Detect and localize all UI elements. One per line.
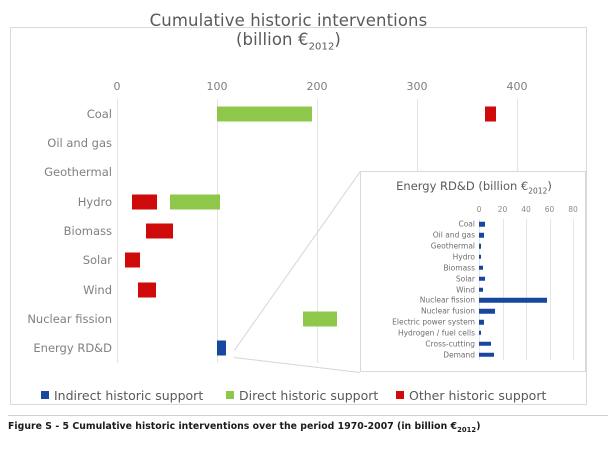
inset-gridline (573, 219, 574, 360)
main-bar-segment (170, 194, 220, 209)
inset-category-label: Nuclear fusion (421, 307, 475, 316)
inset-category-label: Wind (456, 285, 475, 294)
inset-chart-title: Energy RD&D (billion €2012) (361, 179, 587, 195)
inset-bar (479, 298, 547, 303)
inset-x-axis: 020406080 (479, 205, 573, 217)
inset-gridline (526, 219, 527, 360)
inset-category-label: Hydro (453, 252, 475, 261)
inset-bar (479, 331, 481, 336)
main-x-tick-label: 100 (207, 80, 228, 93)
main-bar-segment (303, 312, 337, 327)
main-title-line2: (billion €2012) (0, 30, 577, 56)
main-category-label: Oil and gas (47, 136, 112, 150)
legend-item[interactable]: Other historic support (396, 388, 546, 403)
inset-bar (479, 244, 481, 249)
figure-root: Cumulative historic interventions (billi… (0, 0, 616, 462)
inset-bar (479, 309, 495, 314)
inset-category-label: Demand (443, 350, 475, 359)
inset-category-axis: CoalOil and gasGeothermalHydroBiomassSol… (363, 219, 475, 360)
main-chart-title: Cumulative historic interventions (billi… (0, 11, 577, 56)
legend-label: Direct historic support (239, 388, 378, 403)
caption-unit-sub: 2012 (457, 426, 476, 434)
inset-panel: Energy RD&D (billion €2012) CoalOil and … (360, 171, 586, 372)
inset-gridline (503, 219, 504, 360)
inset-bar (479, 222, 485, 227)
main-title-unit-suffix: ) (334, 30, 341, 49)
caption-divider (8, 415, 608, 416)
main-x-tick-label: 200 (307, 80, 328, 93)
inset-category-label: Electric power system (392, 318, 475, 327)
main-title-unit-prefix: (billion € (236, 30, 309, 49)
inset-title-suffix: ) (547, 179, 552, 193)
inset-x-tick-label: 20 (498, 205, 508, 214)
main-bar-segment (217, 341, 226, 356)
inset-category-label: Nuclear fission (420, 296, 475, 305)
main-x-tick-label: 0 (114, 80, 121, 93)
inset-bar (479, 287, 483, 292)
legend-label: Other historic support (409, 388, 546, 403)
inset-bar (479, 266, 483, 271)
inset-plot-area: 020406080 (479, 219, 573, 360)
main-bar-segment (125, 253, 140, 268)
inset-x-tick-label: 60 (545, 205, 555, 214)
main-gridline (217, 99, 218, 363)
inset-gridline (550, 219, 551, 360)
legend-label: Indirect historic support (54, 388, 203, 403)
main-title-line1: Cumulative historic interventions (0, 11, 577, 30)
inset-bar (479, 352, 494, 357)
inset-title-prefix: Energy RD&D (billion € (396, 179, 528, 193)
main-title-unit-sub: 2012 (309, 41, 335, 52)
inset-bar (479, 276, 485, 281)
inset-category-label: Biomass (443, 263, 475, 272)
main-category-label: Wind (83, 283, 112, 297)
inset-category-label: Geothermal (431, 242, 475, 251)
main-category-label: Solar (83, 253, 112, 267)
inset-category-label: Oil and gas (433, 231, 475, 240)
inset-x-tick-label: 40 (521, 205, 531, 214)
main-category-label: Energy RD&D (33, 341, 112, 355)
legend-swatch (41, 391, 49, 399)
inset-bar (479, 341, 491, 346)
caption-text: Figure S - 5 Cumulative historic interve… (8, 421, 457, 432)
inset-x-tick-label: 0 (477, 205, 482, 214)
inset-bar (479, 233, 484, 238)
legend-swatch (226, 391, 234, 399)
inset-title-sub: 2012 (528, 186, 547, 195)
inset-category-label: Coal (458, 220, 475, 229)
main-bar-segment (138, 282, 156, 297)
main-category-axis: CoalOil and gasGeothermalHydroBiomassSol… (22, 99, 112, 363)
main-bar-segment (485, 106, 496, 121)
legend-swatch (396, 391, 404, 399)
main-category-label: Hydro (78, 195, 112, 209)
inset-category-label: Solar (456, 274, 475, 283)
main-bar-segment (132, 194, 157, 209)
chart-legend: Indirect historic supportDirect historic… (11, 384, 586, 406)
main-category-label: Biomass (64, 224, 112, 238)
main-category-label: Nuclear fission (27, 312, 112, 326)
inset-category-label: Cross-cutting (425, 339, 475, 348)
main-bar-segment (217, 106, 312, 121)
main-category-label: Geothermal (44, 165, 112, 179)
legend-item[interactable]: Direct historic support (226, 388, 378, 403)
main-x-tick-label: 300 (407, 80, 428, 93)
main-x-tick-label: 400 (507, 80, 528, 93)
legend-item[interactable]: Indirect historic support (41, 388, 203, 403)
inset-bar (479, 320, 484, 325)
figure-caption: Figure S - 5 Cumulative historic interve… (8, 421, 608, 434)
main-bar-segment (146, 224, 173, 239)
main-category-label: Coal (87, 107, 112, 121)
inset-category-label: Hydrogen / fuel cells (398, 328, 475, 337)
inset-x-tick-label: 80 (568, 205, 578, 214)
main-gridline (117, 99, 118, 363)
caption-suffix: ) (476, 421, 480, 432)
inset-bar (479, 255, 481, 260)
main-x-axis: 0100200300400 (117, 80, 543, 96)
